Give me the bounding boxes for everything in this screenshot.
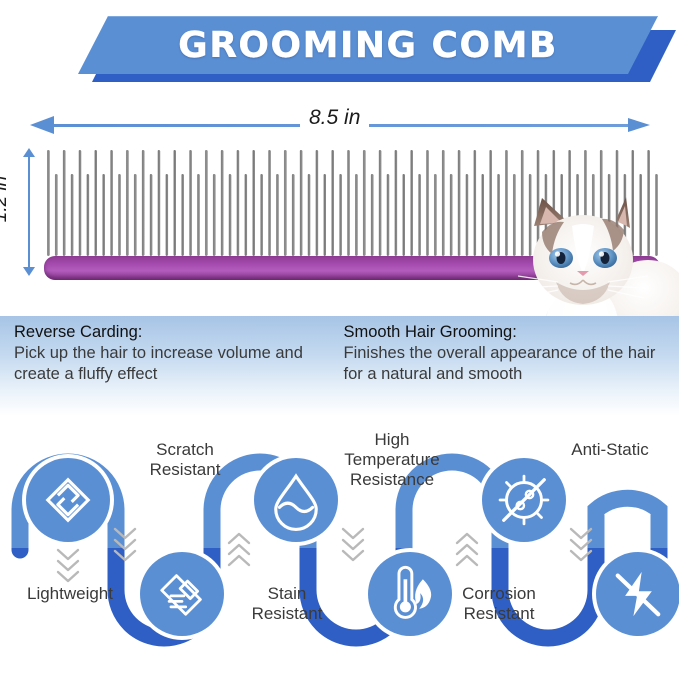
feature-label-scratch-resistant: Scratch Resistant (126, 440, 244, 480)
description-block-reverse-carding: Reverse Carding: Pick up the hair to inc… (0, 322, 340, 422)
description-body: Finishes the overall appearance of the h… (344, 343, 668, 385)
chevron-stack-icon (457, 534, 477, 565)
feature-label-anti-static: Anti-Static (548, 440, 672, 460)
germ-slash-icon (500, 476, 548, 524)
chevron-stack-icon (343, 529, 363, 560)
description-columns: Reverse Carding: Pick up the hair to inc… (0, 322, 679, 422)
arrow-down-head-icon (23, 267, 35, 276)
infographic-page: GROOMING COMB 8.5 in 1.2 in (0, 0, 679, 679)
feature-badge-stacked-layers-icon[interactable] (22, 454, 114, 546)
height-dimension-arrow (22, 148, 36, 276)
width-label: 8.5 in (300, 106, 369, 130)
page-title: GROOMING COMB (78, 16, 658, 74)
feature-label-high-temperature: High Temperature Resistance (330, 430, 454, 490)
description-body: Pick up the hair to increase volume and … (14, 343, 328, 385)
description-title: Smooth Hair Grooming: (344, 322, 668, 343)
arrow-right-head-icon (628, 118, 650, 132)
feature-badge-lightning-slash-icon[interactable] (592, 548, 679, 640)
height-label: 1.2 in (0, 172, 12, 226)
feature-badge-water-droplet-icon[interactable] (250, 454, 342, 546)
feature-label-corrosion-resistant: Corrosion Resistant (438, 584, 560, 624)
feature-badge-scratch-shield-icon[interactable] (136, 548, 228, 640)
arrow-shaft-vertical (28, 153, 30, 271)
title-banner: GROOMING COMB (0, 6, 679, 92)
feature-badge-germ-slash-icon[interactable] (478, 454, 570, 546)
chevron-stack-icon (58, 550, 78, 581)
feature-highlights: Lightweight Scratch Resistant Stain Resi… (0, 432, 679, 672)
description-block-smooth-hair-grooming: Smooth Hair Grooming: Finishes the overa… (340, 322, 679, 422)
chevron-stack-icon (229, 534, 249, 565)
description-title: Reverse Carding: (14, 322, 328, 343)
feature-label-stain-resistant: Stain Resistant (228, 584, 346, 624)
feature-label-lightweight: Lightweight (8, 584, 132, 604)
